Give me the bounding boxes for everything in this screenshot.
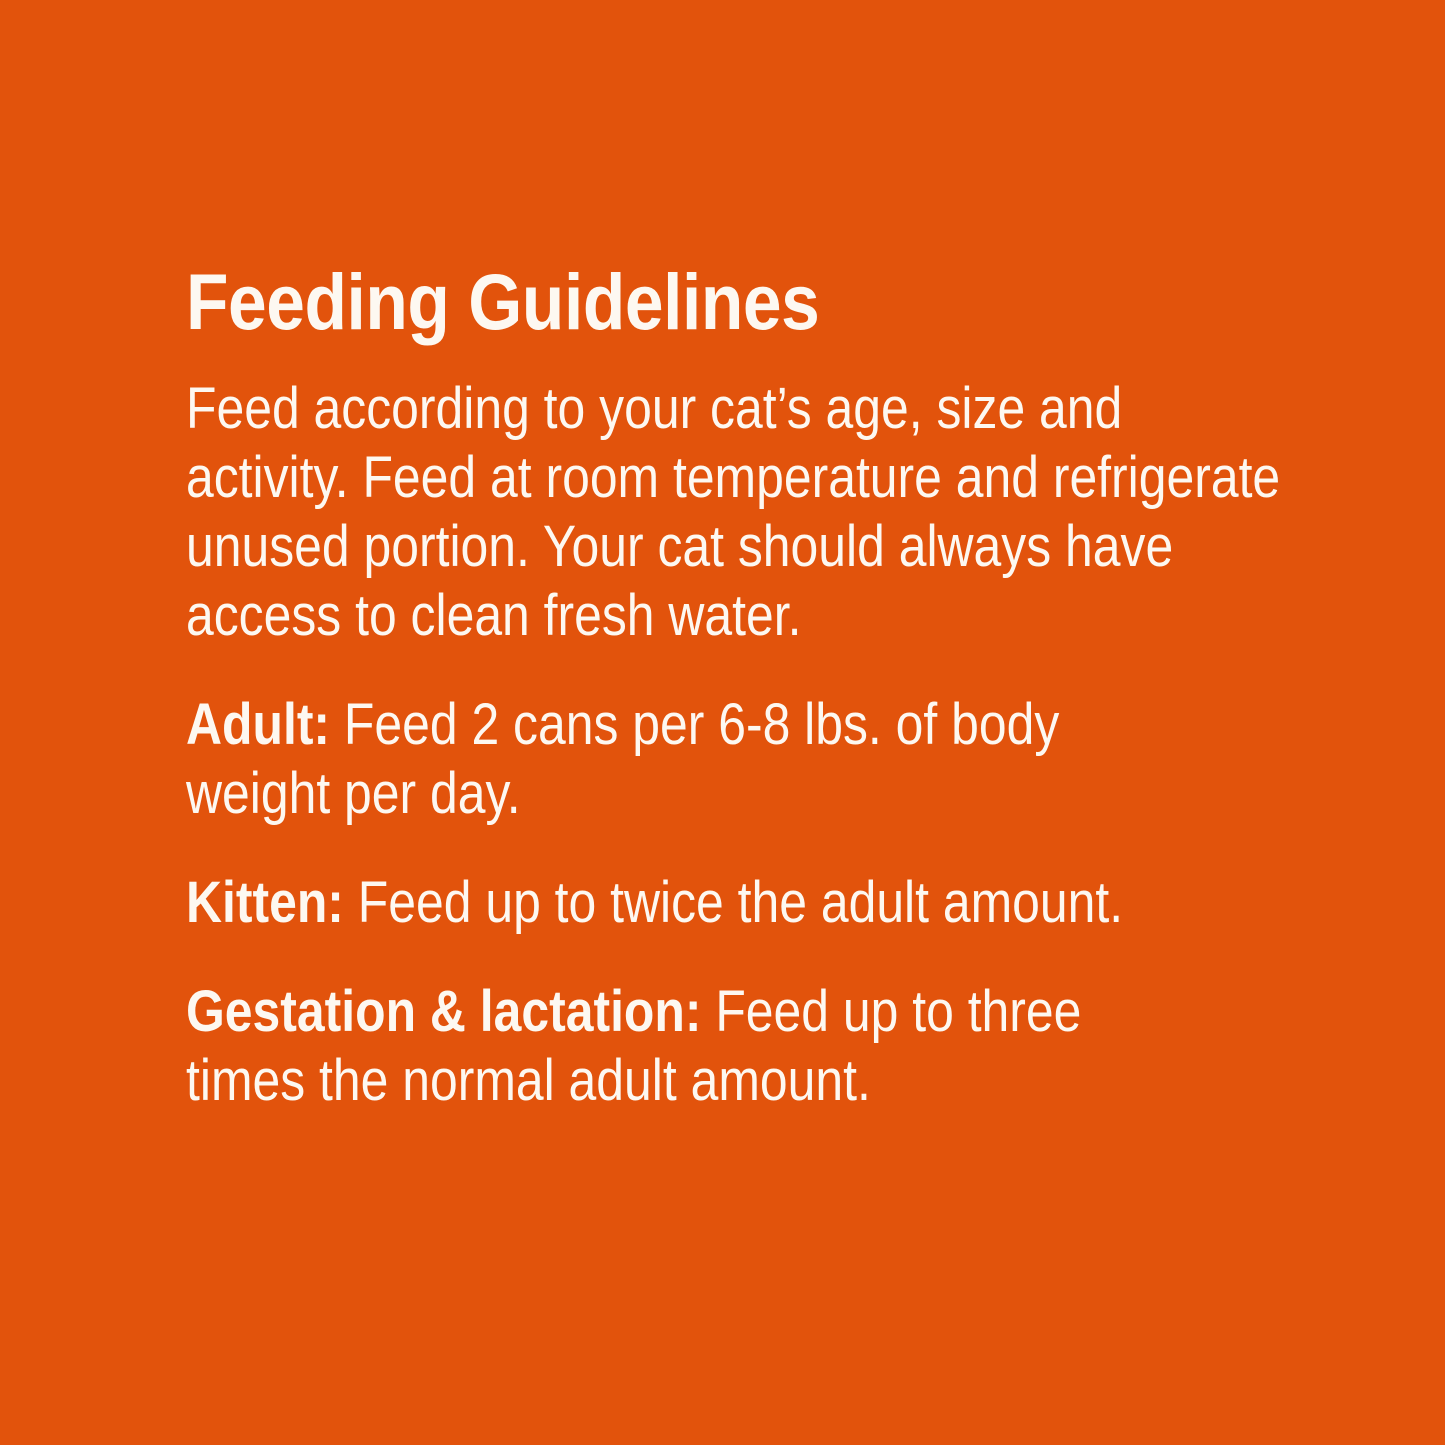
- paragraph-kitten-text: Feed up to twice the adult amount.: [358, 870, 1123, 935]
- paragraph-intro-text: Feed according to your cat’s age, size a…: [186, 376, 1280, 648]
- content-column: Feeding Guidelines Feed according to you…: [186, 258, 1286, 1115]
- paragraph-adult: Adult: Feed 2 cans per 6-8 lbs. of body …: [186, 690, 1171, 828]
- paragraph-kitten: Kitten: Feed up to twice the adult amoun…: [186, 868, 1304, 937]
- paragraph-intro: Feed according to your cat’s age, size a…: [186, 374, 1283, 650]
- paragraph-adult-label: Adult:: [186, 692, 344, 757]
- paragraph-gestation-lactation: Gestation & lactation: Feed up to three …: [186, 977, 1197, 1115]
- page-title: Feeding Guidelines: [186, 258, 1154, 346]
- feeding-guidelines-panel: Feeding Guidelines Feed according to you…: [0, 0, 1445, 1445]
- paragraph-gestation-lactation-label: Gestation & lactation:: [186, 979, 715, 1044]
- paragraph-kitten-label: Kitten:: [186, 870, 358, 935]
